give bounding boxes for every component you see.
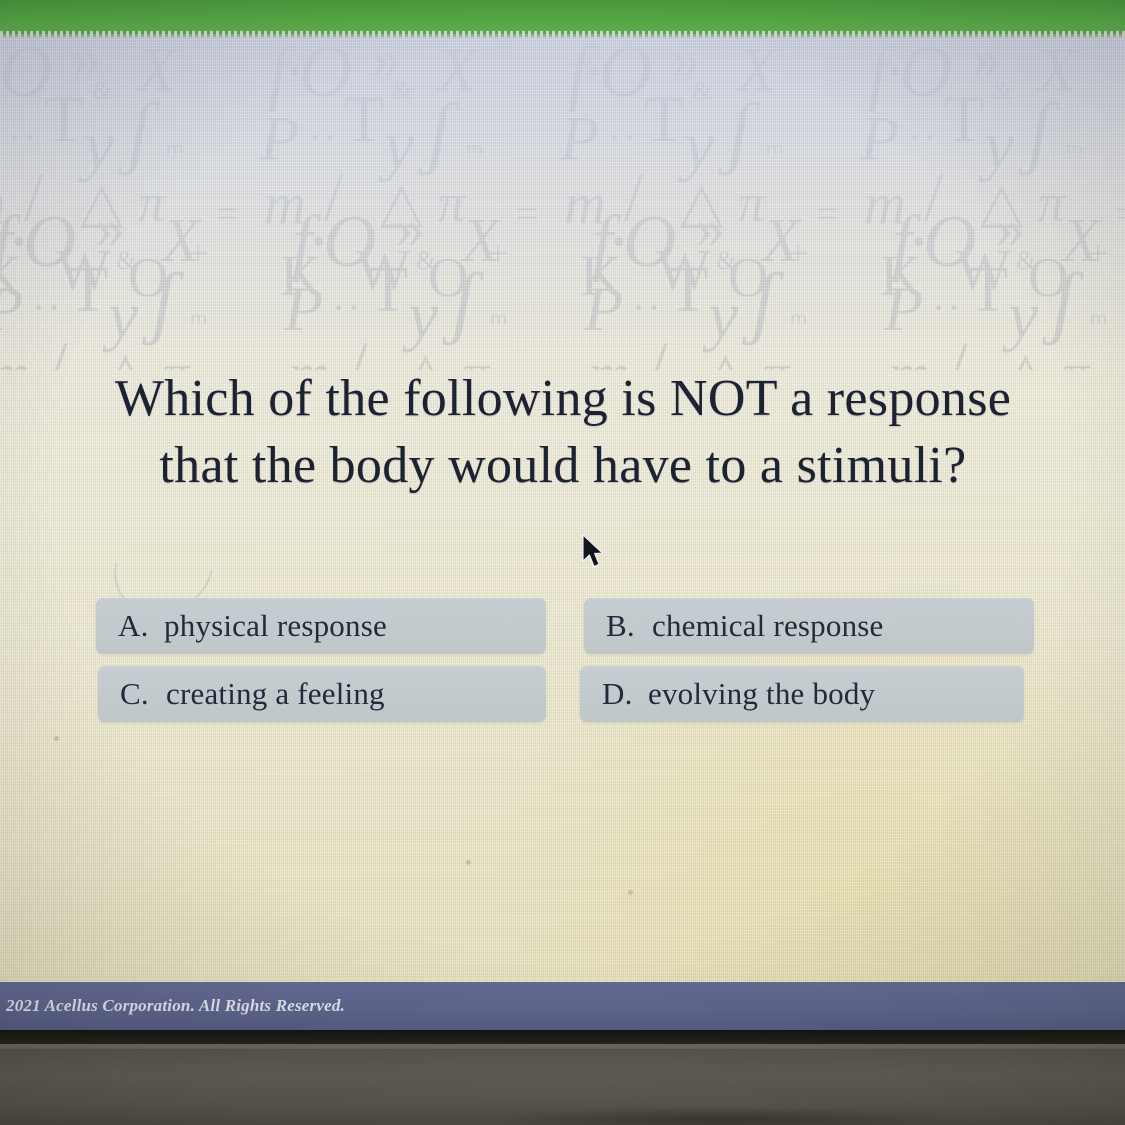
laptop-body-texture [0, 1047, 1125, 1125]
watermark-glyph-x: X [1038, 36, 1076, 107]
watermark-glyph-equals: = [216, 190, 239, 237]
watermark-glyph-integral: ʃ [1028, 84, 1052, 178]
watermark-glyph-dots: ·· [8, 114, 39, 161]
answer-text-a: physical response [164, 608, 387, 644]
watermark-glyph-pi: π [738, 172, 765, 234]
watermark-glyph-p: P [560, 102, 599, 176]
watermark-glyph-t: T [668, 252, 708, 328]
watermark-glyph-chevron: » [696, 194, 725, 261]
answer-text-d: evolving the body [648, 676, 875, 712]
watermark-glyph-x: X [738, 36, 776, 107]
watermark-glyph-slash: / [348, 328, 367, 370]
watermark-glyph-chevron: » [72, 30, 101, 91]
watermark-glyph-t: T [944, 82, 984, 158]
watermark-glyph-x: X [462, 206, 500, 277]
watermark-glyph-k: K [0, 242, 22, 309]
watermark-glyph-plus: + [188, 232, 208, 274]
watermark-glyph-delta: △ [980, 170, 1023, 235]
watermark-glyph-pi: π [438, 172, 465, 234]
watermark-glyph-dots: ·· [632, 284, 663, 331]
lcd-horizontal-lines [0, 30, 1125, 1030]
watermark-glyph-t: T [368, 252, 408, 328]
watermark-glyph-o: O [1028, 246, 1068, 310]
watermark-glyph-slash: / [48, 328, 67, 370]
watermark-glyph-plus: + [788, 232, 808, 274]
watermark-glyph-ampersand: & [992, 76, 1012, 106]
answer-option-b[interactable]: B. chemical response [584, 598, 1034, 654]
answer-letter-a: A. [118, 608, 164, 644]
watermark-glyph-m: m [0, 170, 6, 237]
watermark-glyph-p: P [284, 272, 323, 346]
watermark-glyph-fo: f·O [268, 30, 349, 115]
watermark-glyph-subscript: ₘ [1066, 128, 1083, 162]
watermark-glyph-chevron: » [396, 194, 425, 261]
answer-letter-c: C. [120, 676, 166, 712]
watermark-glyph-y: y [984, 106, 1014, 185]
watermark-glyph-slash: / [948, 328, 967, 370]
watermark-glyph-integral: ʃ [152, 254, 176, 348]
watermark-glyph-subscript: ₘ [490, 298, 507, 332]
watermark-glyph-y: y [84, 106, 114, 185]
photo-of-laptop-screen: f·O » X = P ·· T & y ʃ ₘ m / △ π K W O + [0, 0, 1125, 1125]
watermark-glyph-pi: π [1038, 172, 1065, 234]
watermark-glyph-w: W [956, 236, 1011, 303]
watermark-glyph-ampersand: & [92, 76, 112, 106]
watermark-glyph-subscript: ₘ [790, 298, 807, 332]
watermark-glyph-dots: ·· [308, 114, 339, 161]
watermark-glyph-t: T [968, 252, 1008, 328]
watermark-glyph-p: P [0, 272, 23, 346]
watermark-glyph-fo: f·O [568, 30, 649, 115]
watermark-glyph-dots: ·· [32, 284, 63, 331]
question-text: Which of the following is NOT a response… [88, 366, 1038, 499]
watermark-glyph-x: X [438, 36, 476, 107]
watermark-glyph-ampersand: & [692, 76, 712, 106]
answer-option-c[interactable]: C. creating a feeling [98, 666, 546, 722]
watermark-glyph-subscript: ₘ [766, 128, 783, 162]
copyright-text: 2021 Acellus Corporation. All Rights Res… [6, 996, 345, 1016]
watermark-glyph-k: K [880, 242, 922, 309]
watermark-glyph-subscript: ₘ [166, 128, 183, 162]
watermark-glyph-ampersand: & [416, 246, 436, 276]
watermark-glyph-o: O [428, 246, 468, 310]
watermark-glyph-equals: = [816, 190, 839, 237]
answer-options-grid: A. physical response B. chemical respons… [96, 598, 1034, 722]
watermark-glyph-o: O [128, 246, 168, 310]
watermark-glyph-pi: π [138, 172, 165, 234]
watermark-glyph-slash: / [324, 158, 343, 238]
watermark-glyph-x: X [138, 36, 176, 107]
watermark-glyph-slash: / [24, 158, 43, 238]
watermark-glyph-equals: = [516, 190, 539, 237]
watermark-glyph-plus: + [488, 232, 508, 274]
watermark-glyph-y: y [684, 106, 714, 185]
watermark-glyph-t: T [44, 82, 84, 158]
watermark-glyph-subscript: ₘ [466, 128, 483, 162]
watermark-glyph-fo: f·O [592, 200, 673, 285]
laptop-body [0, 1047, 1125, 1125]
watermark-glyph-m: m [264, 170, 306, 237]
lesson-screen: f·O » X = P ·· T & y ʃ ₘ m / △ π K W O + [0, 30, 1125, 1030]
watermark-glyph-w: W [356, 236, 411, 303]
watermark-glyph-delta: △ [380, 170, 423, 235]
watermark-glyph-y: y [408, 276, 438, 355]
watermark-glyph-t: T [344, 82, 384, 158]
watermark-glyph-equals: = [1116, 190, 1125, 237]
watermark-glyph-x: X [1062, 206, 1100, 277]
watermark-glyph-fo: f·O [0, 200, 73, 285]
answer-text-b: chemical response [652, 608, 884, 644]
watermark-glyph-x: X [762, 206, 800, 277]
watermark-glyph-p: P [860, 102, 899, 176]
watermark-glyph-integral: ʃ [728, 84, 752, 178]
watermark-glyph-ampersand: & [1016, 246, 1036, 276]
watermark-glyph-fo: f·O [292, 200, 373, 285]
watermark-glyph-dots: ·· [608, 114, 639, 161]
answer-option-d[interactable]: D. evolving the body [580, 666, 1024, 722]
screen-smudge-dot [54, 736, 59, 741]
watermark-glyph-plus: + [1088, 232, 1108, 274]
watermark-glyph-slash: / [924, 158, 943, 238]
watermark-glyph-p: P [584, 272, 623, 346]
screen-glare-haze [0, 30, 1125, 360]
watermark-glyph-integral: ʃ [128, 84, 152, 178]
lcd-vertical-lines [0, 30, 1125, 1030]
watermark-glyph-y: y [384, 106, 414, 185]
answer-letter-d: D. [602, 676, 648, 712]
answer-letter-b: B. [606, 608, 652, 644]
watermark-glyph-k: K [580, 242, 622, 309]
screen-smudge-dot [466, 860, 471, 865]
watermark-glyph-chevron: » [96, 194, 125, 261]
screen-smudge-dot [628, 890, 633, 895]
watermark-glyph-w: W [656, 236, 711, 303]
watermark-glyph-chevron: » [972, 30, 1001, 91]
watermark-glyph-fo: f·O [892, 200, 973, 285]
watermark-glyph-fo: f·O [868, 30, 949, 115]
watermark-glyph-integral: ʃ [452, 254, 476, 348]
watermark-glyph-pi: π [1062, 342, 1089, 370]
watermark-glyph-subscript: ₘ [1090, 298, 1107, 332]
watermark-glyph-o: O [728, 246, 768, 310]
watermark-glyph-integral: ʃ [752, 254, 776, 348]
laptop-bezel-highlight [0, 1044, 1125, 1049]
watermark-glyph-k: K [280, 242, 322, 309]
watermark-glyph-t: T [68, 252, 108, 328]
watermark-glyph-dots: ·· [908, 114, 939, 161]
watermark-glyph-chevron: » [996, 194, 1025, 261]
watermark-glyph-p: P [260, 102, 299, 176]
watermark-glyph-m: m [0, 340, 30, 370]
watermark-glyph-ampersand: & [392, 76, 412, 106]
watermark-glyph-delta: △ [80, 170, 123, 235]
watermark-glyph-x: X [162, 206, 200, 277]
watermark-glyph-m: m [864, 170, 906, 237]
watermark-glyph-chevron: » [372, 30, 401, 91]
watermark-glyph-y: y [708, 276, 738, 355]
answer-option-a[interactable]: A. physical response [96, 598, 546, 654]
laptop-body-shadow [480, 1107, 960, 1125]
watermark-glyph-integral: ʃ [1052, 254, 1076, 348]
watermark-glyph-ampersand: & [716, 246, 736, 276]
watermark-glyph-t: T [644, 82, 684, 158]
watermark-glyph-slash: / [648, 328, 667, 370]
watermark-glyph-fo: f·O [0, 30, 49, 115]
watermark-glyph-slash: / [624, 158, 643, 238]
answer-text-c: creating a feeling [166, 676, 385, 712]
watermark-glyph-y: y [1008, 276, 1038, 355]
watermark-glyph-w: W [56, 236, 111, 303]
watermark-glyph-chevron: » [672, 30, 701, 91]
watermark-glyph-p: P [884, 272, 923, 346]
background-watermark: f·O » X = P ·· T & y ʃ ₘ m / △ π K W O + [0, 30, 1125, 370]
watermark-glyph-m: m [564, 170, 606, 237]
watermark-glyph-delta: △ [680, 170, 723, 235]
watermark-glyph-subscript: ₘ [190, 298, 207, 332]
top-green-band [0, 0, 1125, 34]
watermark-glyph-dots: ·· [332, 284, 363, 331]
watermark-glyph-y: y [108, 276, 138, 355]
footer-bar: 2021 Acellus Corporation. All Rights Res… [0, 982, 1125, 1030]
watermark-glyph-dots: ·· [932, 284, 963, 331]
watermark-glyph-integral: ʃ [428, 84, 452, 178]
watermark-glyph-ampersand: & [116, 246, 136, 276]
